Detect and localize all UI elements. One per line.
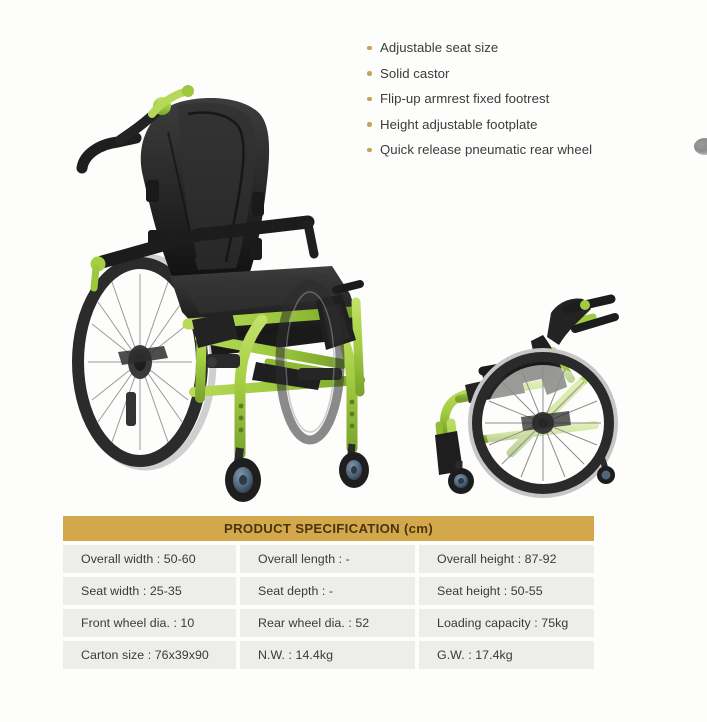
side-rear-wheel bbox=[471, 351, 615, 495]
feature-list-item: Flip-up armrest fixed footrest bbox=[367, 91, 697, 106]
spec-cell: Front wheel dia. : 10 bbox=[63, 609, 236, 637]
feature-label: Quick release pneumatic rear wheel bbox=[380, 142, 592, 157]
feature-list-item: Adjustable seat size bbox=[367, 40, 697, 55]
spec-cell: Overall length : - bbox=[240, 545, 415, 573]
feature-list: Adjustable seat size Solid castor Flip-u… bbox=[367, 40, 697, 168]
spec-cell: G.W. : 17.4kg bbox=[419, 641, 594, 669]
spec-table-body: Overall width : 50-60 Overall length : -… bbox=[63, 545, 594, 669]
feature-list-item: Height adjustable footplate bbox=[367, 117, 697, 132]
product-specification-table: PRODUCT SPECIFICATION (cm) Overall width… bbox=[63, 516, 594, 669]
front-caster-right bbox=[339, 444, 369, 488]
product-photo-side bbox=[425, 275, 640, 505]
spec-cell: Rear wheel dia. : 52 bbox=[240, 609, 415, 637]
spec-cell: Overall height : 87-92 bbox=[419, 545, 594, 573]
feature-label: Adjustable seat size bbox=[380, 40, 498, 55]
spec-table-header: PRODUCT SPECIFICATION (cm) bbox=[63, 516, 594, 541]
feature-list-item: Solid castor bbox=[367, 66, 697, 81]
spec-table-title: PRODUCT SPECIFICATION (cm) bbox=[224, 521, 433, 536]
feature-label: Flip-up armrest fixed footrest bbox=[380, 91, 549, 106]
bullet-dot-icon bbox=[367, 46, 372, 51]
spec-cell: Seat height : 50-55 bbox=[419, 577, 594, 605]
feature-label: Solid castor bbox=[380, 66, 450, 81]
spec-cell: Seat width : 25-35 bbox=[63, 577, 236, 605]
feature-list-item: Quick release pneumatic rear wheel bbox=[367, 142, 697, 157]
spec-cell: Carton size : 76x39x90 bbox=[63, 641, 236, 669]
table-row: Carton size : 76x39x90 N.W. : 14.4kg G.W… bbox=[63, 641, 594, 669]
table-row: Seat width : 25-35 Seat depth : - Seat h… bbox=[63, 577, 594, 605]
spec-cell: Seat depth : - bbox=[240, 577, 415, 605]
spec-cell: Overall width : 50-60 bbox=[63, 545, 236, 573]
product-photo-main bbox=[60, 62, 390, 502]
spec-cell: N.W. : 14.4kg bbox=[240, 641, 415, 669]
table-row: Front wheel dia. : 10 Rear wheel dia. : … bbox=[63, 609, 594, 637]
table-row: Overall width : 50-60 Overall length : -… bbox=[63, 545, 594, 573]
spec-cell: Loading capacity : 75kg bbox=[419, 609, 594, 637]
product-spec-page: Adjustable seat size Solid castor Flip-u… bbox=[0, 0, 707, 722]
feature-label: Height adjustable footplate bbox=[380, 117, 538, 132]
